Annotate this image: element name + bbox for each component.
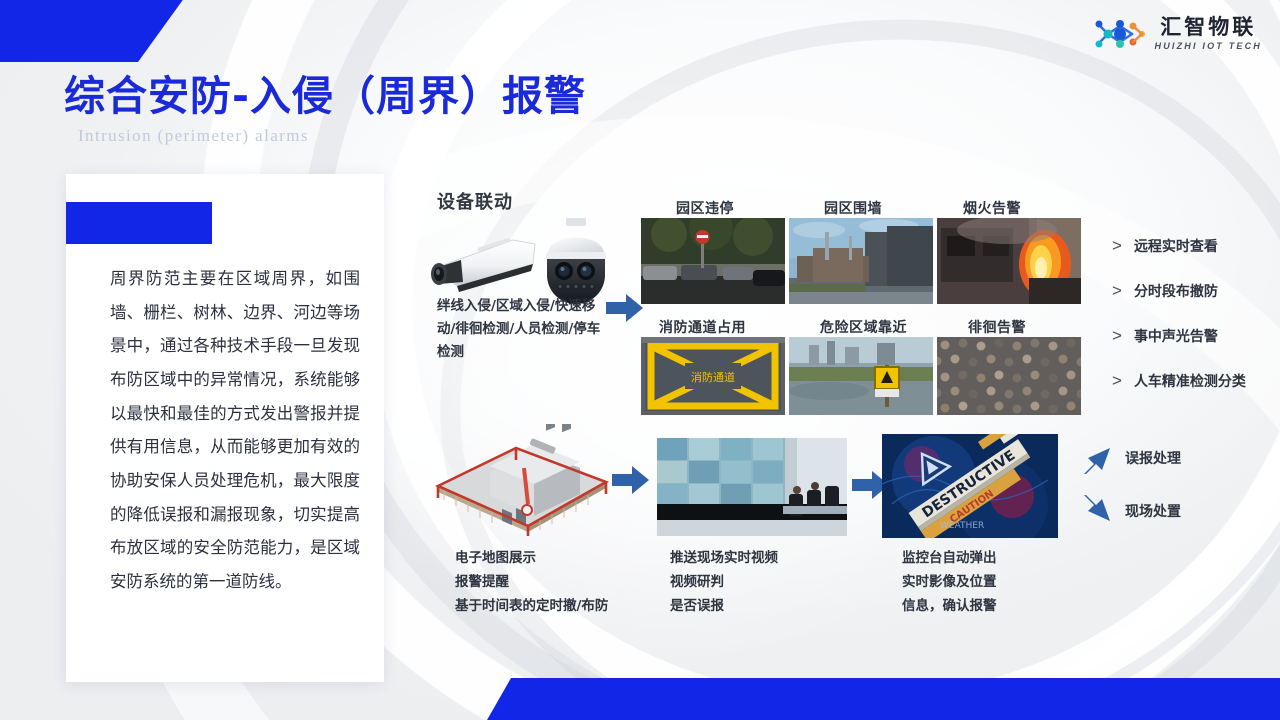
scene-tile-image[interactable] (937, 337, 1081, 415)
parking-violation-photo (641, 218, 785, 304)
crowd-loitering-photo (937, 337, 1081, 415)
logo-text-en: HUIZHI IOT TECH (1155, 42, 1263, 51)
capability-list: > 远程实时查看 > 分时段布撤防 > 事中声光告警 > 人车精准检测分类 (1112, 236, 1280, 416)
card-paragraph: 周界防范主要在区域周界，如围墙、栅栏、树林、边界、河边等场景中，通过各种技术手段… (110, 262, 360, 599)
control-room-video-wall-photo (657, 438, 847, 536)
scene-tile-image[interactable]: 消防通道 (641, 337, 785, 415)
capability-item[interactable]: > 事中声光告警 (1112, 326, 1280, 346)
outcome-label: 误报处理 (1125, 448, 1181, 468)
chevron-right-icon: > (1112, 326, 1122, 346)
chevron-right-icon: > (1112, 236, 1122, 256)
svg-text:WEATHER: WEATHER (940, 521, 984, 531)
chevron-right-icon: > (1112, 281, 1122, 301)
scene-tile-label: 烟火告警 (963, 198, 1021, 218)
corner-accent-bottom-right (487, 678, 1280, 720)
arrow-down-right-icon (1080, 491, 1114, 525)
scene-tile-label: 园区围墙 (824, 198, 882, 218)
fire-lane-occupied-photo: 消防通道 (641, 337, 785, 415)
description-card: 周界防范主要在区域周界，如围墙、栅栏、树林、边界、河边等场景中，通过各种技术手段… (66, 174, 384, 682)
scene-tile-label: 消防通道占用 (659, 317, 746, 337)
flow-step-caption: 监控台自动弹出 实时影像及位置 信息，确认报警 (902, 547, 1082, 618)
page-subtitle: Intrusion (perimeter) alarms (78, 126, 309, 146)
page-title: 综合安防-入侵（周界）报警 (64, 62, 586, 122)
flow-step-caption: 推送现场实时视频 视频研判 是否误报 (670, 547, 860, 618)
campus-wall-photo (789, 218, 933, 304)
logo-text-cn: 汇智物联 (1160, 17, 1256, 38)
scene-tile-image[interactable] (641, 218, 785, 304)
devices-section-title: 设备联动 (437, 188, 513, 214)
corner-accent-top-left (0, 0, 190, 62)
outcome-label: 现场处置 (1125, 501, 1181, 521)
card-title-badge (66, 202, 212, 244)
scene-tile-label: 园区违停 (676, 198, 734, 218)
alarm-popup-screen-photo: DESTRUCTIVE CAUTION WEATHER (882, 434, 1058, 538)
bullet-camera-icon (417, 224, 547, 302)
molecule-network-icon (1093, 14, 1147, 54)
capability-label: 远程实时查看 (1134, 236, 1218, 256)
flow-step-image[interactable] (657, 438, 847, 536)
capability-label: 分时段布撤防 (1134, 281, 1218, 301)
scene-tile-image[interactable] (789, 337, 933, 415)
arrow-up-right-icon (1080, 444, 1114, 478)
devices-caption: 绊线入侵/区域入侵/快速移动/徘徊检测/人员检测/停车检测 (437, 295, 602, 365)
capability-label: 人车精准检测分类 (1134, 371, 1246, 391)
scene-tile-image[interactable] (937, 218, 1081, 304)
scene-tile-image[interactable] (789, 218, 933, 304)
scene-tile-label: 徘徊告警 (968, 317, 1026, 337)
flow-step-caption: 电子地图展示 报警提醒 基于时间表的定时撤/布防 (455, 547, 650, 618)
capability-item[interactable]: > 人车精准检测分类 (1112, 371, 1280, 391)
capability-label: 事中声光告警 (1134, 326, 1218, 346)
camera-illustrations (425, 218, 610, 298)
fire-smoke-photo (937, 218, 1081, 304)
hazard-area-photo (789, 337, 933, 415)
slide-root: 汇智物联 HUIZHI IOT TECH 综合安防-入侵（周界）报警 Intru… (0, 0, 1280, 720)
chevron-right-icon: > (1112, 371, 1122, 391)
brand-logo: 汇智物联 HUIZHI IOT TECH (1093, 14, 1263, 54)
flow-step-image[interactable] (424, 424, 616, 536)
flow-step-image[interactable]: DESTRUCTIVE CAUTION WEATHER (882, 434, 1058, 538)
svg-text:消防通道: 消防通道 (691, 370, 735, 384)
capability-item[interactable]: > 分时段布撤防 (1112, 281, 1280, 301)
scene-tile-label: 危险区域靠近 (820, 317, 907, 337)
arrow-right-icon (612, 465, 650, 495)
electronic-map-3d-building (424, 424, 616, 536)
arrow-right-icon (606, 293, 644, 323)
capability-item[interactable]: > 远程实时查看 (1112, 236, 1280, 256)
